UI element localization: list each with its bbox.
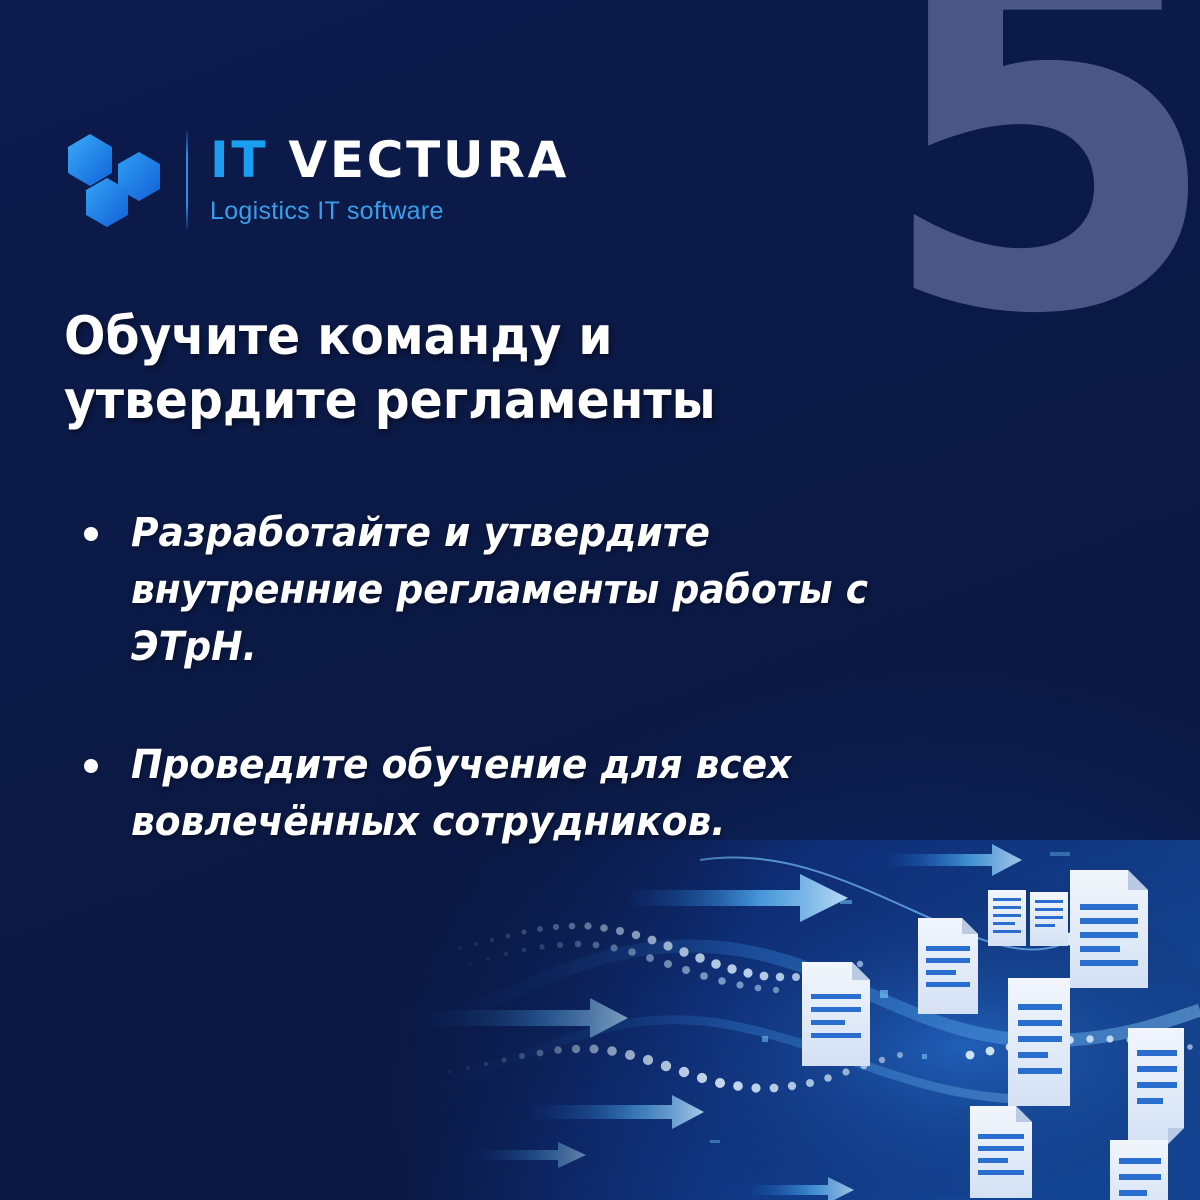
bullet-list: Разработайте и утвердите внутренние регл… xyxy=(84,505,964,851)
brand-wordmark: IT VECTURA Logistics IT software xyxy=(210,135,569,226)
bullet-dot-icon xyxy=(84,759,98,773)
brand-tagline: Logistics IT software xyxy=(210,197,569,226)
brand-prefix: IT xyxy=(210,131,268,189)
list-item: Разработайте и утвердите внутренние регл… xyxy=(84,505,964,675)
bullet-dot-icon xyxy=(84,527,98,541)
hexagon-cluster-logo-icon xyxy=(64,128,168,232)
list-item-label: Разработайте и утвердите внутренние регл… xyxy=(131,505,914,675)
document-icon-group xyxy=(802,870,1184,1200)
page-title: Обучите команду и утвердите регламенты xyxy=(64,305,855,433)
list-item: Проведите обучение для всех вовлечённых … xyxy=(84,737,964,851)
step-number-watermark: 5 xyxy=(875,0,1200,382)
brand-name: VECTURA xyxy=(288,131,569,189)
document-flow-illustration xyxy=(410,840,1200,1200)
logo-divider xyxy=(186,131,188,229)
brand-logo: IT VECTURA Logistics IT software xyxy=(64,128,569,232)
brand-title: IT VECTURA xyxy=(210,135,569,186)
slide-canvas: 5 xyxy=(0,0,1200,1200)
list-item-label: Проведите обучение для всех вовлечённых … xyxy=(131,737,914,851)
